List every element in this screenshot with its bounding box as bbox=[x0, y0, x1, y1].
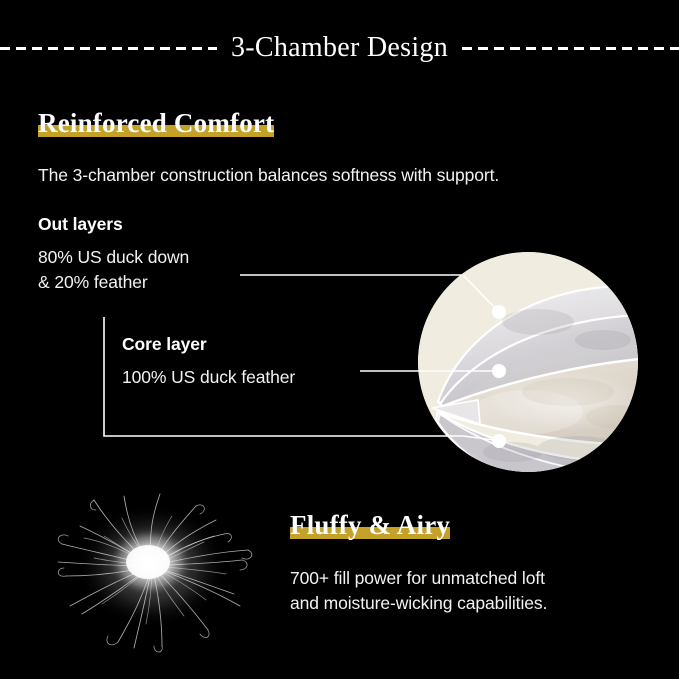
header-rule-right bbox=[462, 47, 679, 50]
callout-label-out-layers: Out layers bbox=[38, 214, 123, 235]
callout-label-core-layer: Core layer bbox=[122, 334, 207, 355]
cross-section-illustration bbox=[418, 252, 638, 472]
heading-label: Reinforced Comfort bbox=[38, 108, 274, 139]
infographic-page: 3-Chamber Design Reinforced Comfort The … bbox=[0, 0, 679, 679]
section-heading-fluffy-airy: Fluffy & Airy bbox=[290, 510, 450, 541]
callout-detail-core-layer: 100% US duck feather bbox=[122, 365, 402, 390]
header-rule-left bbox=[0, 47, 217, 50]
section-body-reinforced-comfort: The 3-chamber construction balances soft… bbox=[38, 163, 638, 188]
section-body-fluffy-airy: 700+ fill power for unmatched loft and m… bbox=[290, 566, 660, 617]
section-heading-reinforced-comfort: Reinforced Comfort bbox=[38, 108, 274, 139]
page-header: 3-Chamber Design bbox=[0, 28, 679, 68]
down-cluster-photo bbox=[36, 482, 268, 658]
callout-detail-out-layers: 80% US duck down & 20% feather bbox=[38, 245, 268, 296]
down-cluster-illustration bbox=[36, 482, 268, 658]
heading-label-2: Fluffy & Airy bbox=[290, 510, 450, 541]
cross-section-photo bbox=[418, 252, 638, 472]
page-title: 3-Chamber Design bbox=[217, 34, 462, 62]
